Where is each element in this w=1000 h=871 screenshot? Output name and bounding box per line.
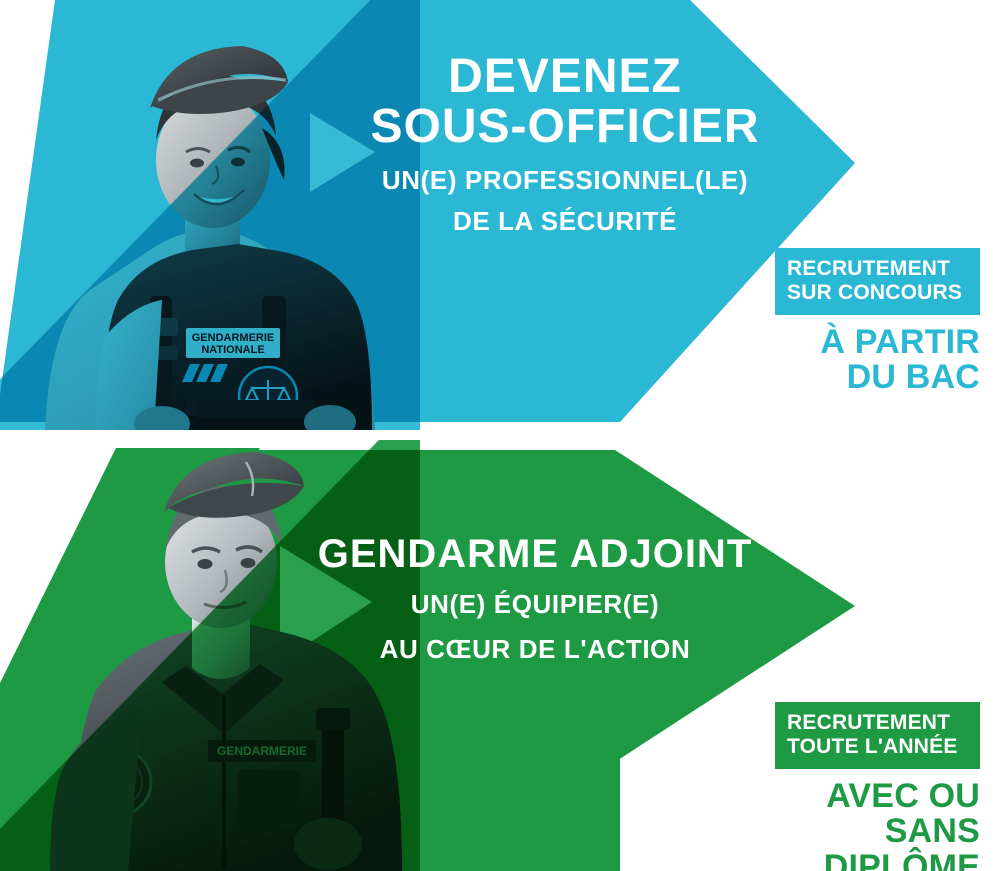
top-headline-line2: SOUS-OFFICIER — [330, 102, 800, 152]
top-badge-box-line1: RECRUTEMENT — [787, 257, 968, 281]
top-badge-sub: À PARTIR DU BAC — [775, 325, 980, 396]
top-badge-sub-line1: À PARTIR — [775, 325, 980, 360]
top-subline-2: DE LA SÉCURITÉ — [330, 208, 800, 235]
jacket-label-gendarmerie: GENDARMERIE — [217, 744, 307, 758]
bottom-badge-sub-line2: DIPLÔME — [775, 850, 980, 871]
bottom-subline-2: AU CŒUR DE L'ACTION — [300, 636, 770, 663]
recruitment-poster: GENDARMERIE NATIONALE — [0, 0, 1000, 871]
top-badge-sub-line2: DU BAC — [775, 360, 980, 395]
bottom-subline-1: UN(E) ÉQUIPIER(E) — [300, 591, 770, 618]
top-badge-box: RECRUTEMENT SUR CONCOURS — [775, 248, 980, 315]
bottom-badge: RECRUTEMENT TOUTE L'ANNÉE AVEC OU SANS D… — [775, 702, 980, 871]
vest-label-gendarmerie: GENDARMERIE — [192, 332, 275, 344]
bottom-badge-box-line1: RECRUTEMENT — [787, 711, 968, 735]
vest-label-nationale: NATIONALE — [201, 344, 264, 356]
top-subline-1: UN(E) PROFESSIONNEL(LE) — [330, 167, 800, 194]
bottom-headline-block: GENDARME ADJOINT UN(E) ÉQUIPIER(E) AU CŒ… — [300, 533, 770, 664]
bottom-badge-box-line2: TOUTE L'ANNÉE — [787, 735, 968, 759]
bottom-badge-sub-line1: AVEC OU SANS — [775, 779, 980, 850]
top-headline-block: DEVENEZ SOUS-OFFICIER UN(E) PROFESSIONNE… — [330, 52, 800, 235]
bottom-badge-box: RECRUTEMENT TOUTE L'ANNÉE — [775, 702, 980, 769]
top-badge-box-line2: SUR CONCOURS — [787, 281, 968, 305]
top-panel-sous-officier: GENDARMERIE NATIONALE — [0, 0, 1000, 430]
top-badge: RECRUTEMENT SUR CONCOURS À PARTIR DU BAC — [775, 248, 980, 396]
top-headline-line1: DEVENEZ — [330, 52, 800, 102]
bottom-badge-sub: AVEC OU SANS DIPLÔME — [775, 779, 980, 871]
bottom-panel-gendarme-adjoint: GENDARMERIE GENDARME ADJOINT UN(E) ÉQUIP… — [0, 440, 1000, 871]
bottom-headline-line1: GENDARME ADJOINT — [300, 533, 770, 575]
